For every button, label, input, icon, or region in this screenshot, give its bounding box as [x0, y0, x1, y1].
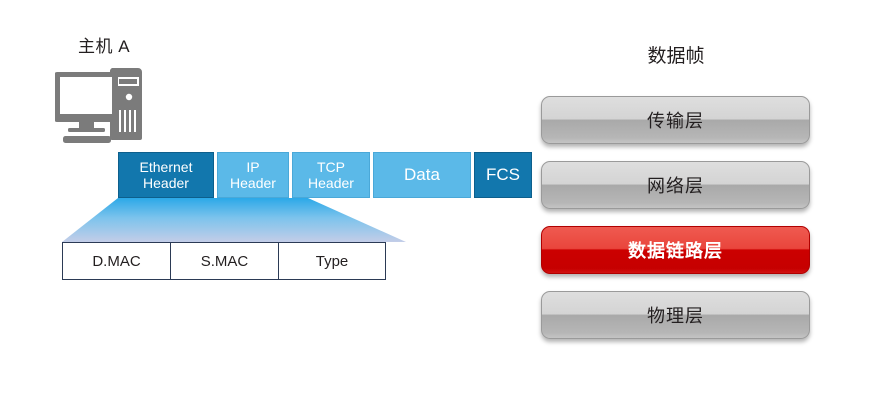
frame-segment-tcp-header: TCP Header [292, 152, 370, 198]
mac-cell-smac: S.MAC [171, 243, 279, 279]
tcp-header-line2: Header [308, 175, 354, 191]
frame-segment-fcs: FCS [474, 152, 532, 198]
osi-layer-stack: 传输层 网络层 数据链路层 物理层 [541, 96, 810, 339]
layer-bar-data-link[interactable]: 数据链路层 [541, 226, 810, 274]
ip-header-line2: Header [230, 175, 276, 191]
zoom-trapezoid-connector [56, 198, 406, 242]
layer-label-data-link: 数据链路层 [628, 237, 723, 263]
desktop-computer-icon [55, 66, 163, 148]
ethernet-header-line1: Ethernet [140, 159, 193, 175]
frame-segment-ethernet-header: Ethernet Header [118, 152, 214, 198]
layer-label-physical: 物理层 [647, 302, 704, 328]
host-label: 主机 A [78, 32, 130, 57]
frame-segment-ip-header: IP Header [217, 152, 289, 198]
layer-label-transport: 传输层 [647, 107, 704, 133]
mac-detail-box: D.MAC S.MAC Type [62, 242, 386, 280]
ip-header-line1: IP [246, 159, 259, 175]
tcp-header-line1: TCP [317, 159, 345, 175]
layer-bar-network[interactable]: 网络层 [541, 161, 810, 209]
frame-segment-data: Data [373, 152, 471, 198]
data-label: Data [404, 165, 440, 185]
mac-cell-dmac: D.MAC [63, 243, 171, 279]
ethernet-header-line2: Header [143, 175, 189, 191]
fcs-label: FCS [486, 165, 520, 185]
stack-title: 数据帧 [540, 41, 812, 68]
layer-bar-physical[interactable]: 物理层 [541, 291, 810, 339]
layer-bar-transport[interactable]: 传输层 [541, 96, 810, 144]
layer-label-network: 网络层 [647, 172, 704, 198]
mac-cell-type: Type [279, 243, 385, 279]
ethernet-frame-diagram: Ethernet Header IP Header TCP Header Dat… [118, 152, 532, 198]
